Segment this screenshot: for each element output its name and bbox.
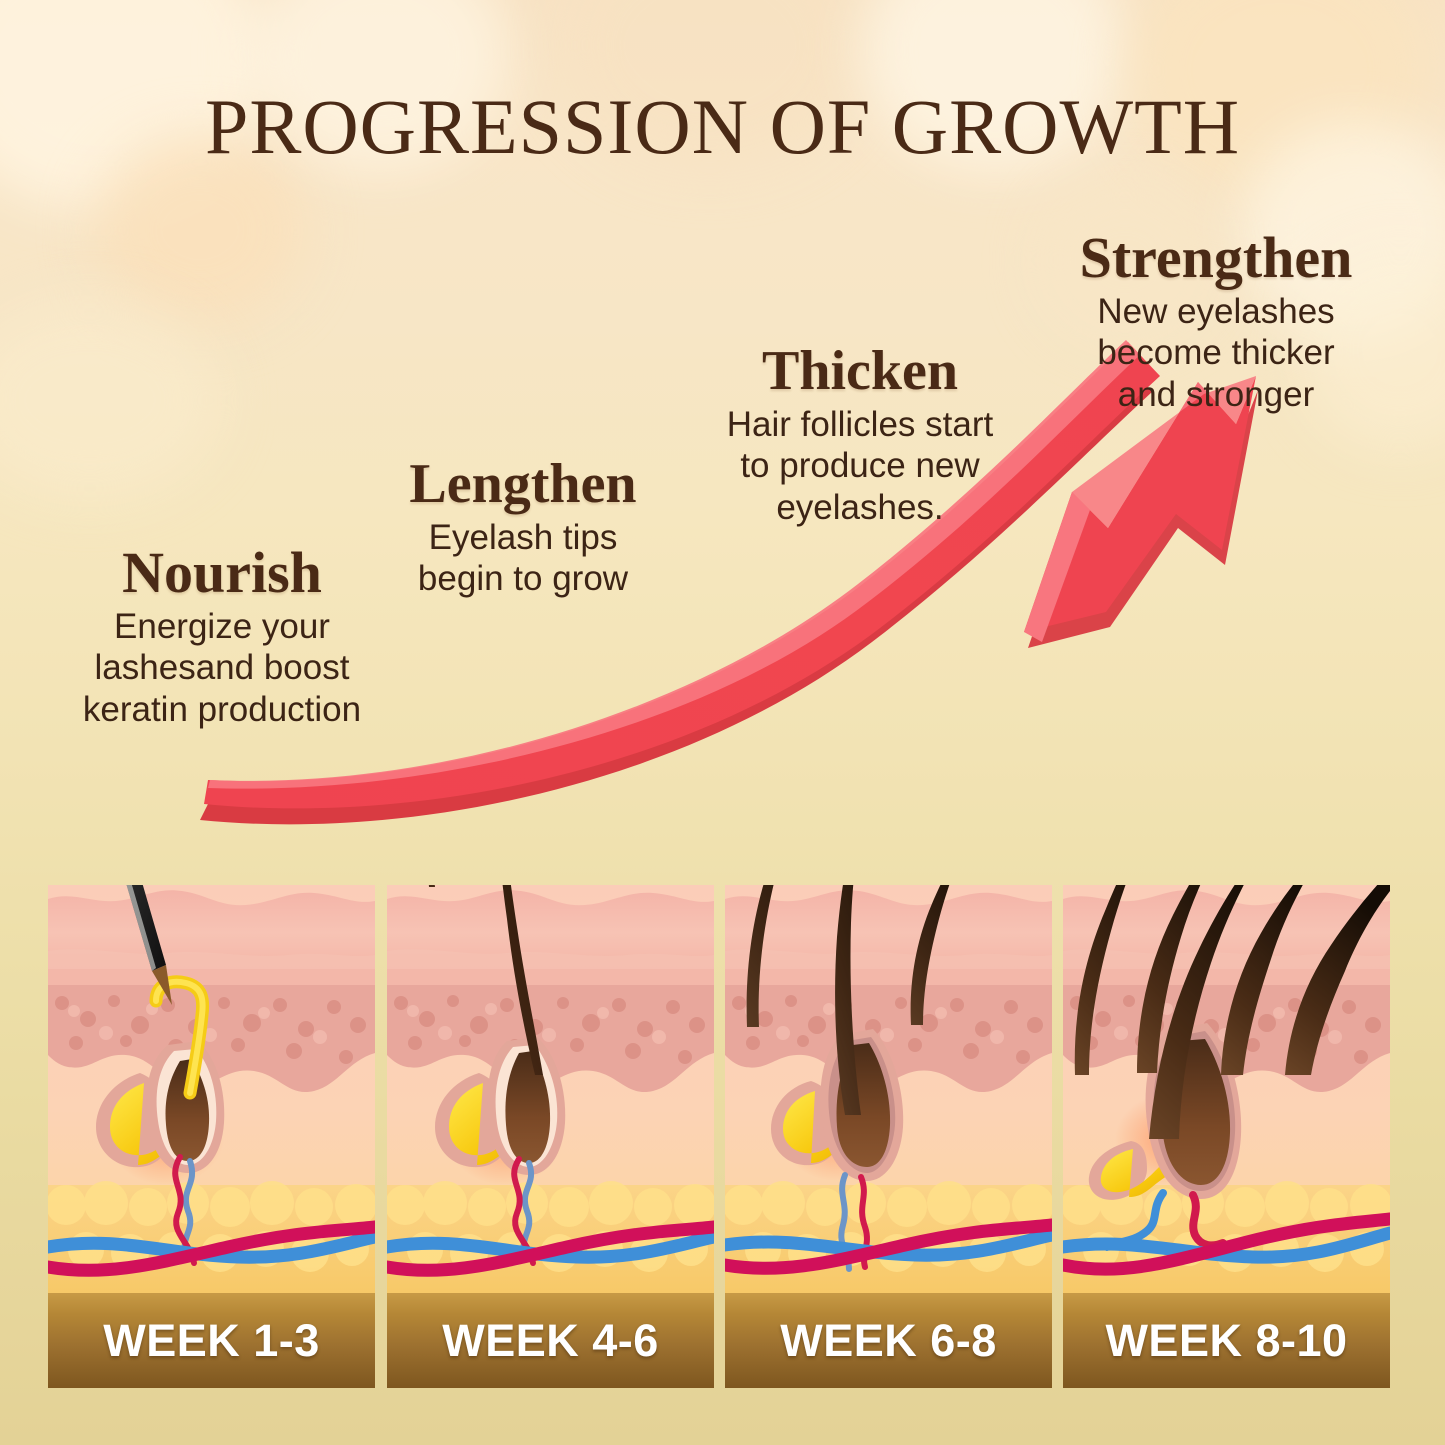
panel-week-8-10[interactable]: WEEK 8-10	[1063, 885, 1390, 1388]
panel-label: WEEK 8-10	[1063, 1293, 1390, 1388]
panel-row: WEEK 1-3	[0, 0, 1445, 1445]
panel-week-1-3[interactable]: WEEK 1-3	[48, 885, 375, 1388]
infographic-root: PROGRESSION OF GROWTH Nourish Energize y…	[0, 0, 1445, 1445]
skin-cross-section	[48, 885, 375, 1293]
panel-week-6-8[interactable]: WEEK 6-8	[725, 885, 1052, 1388]
panel-label: WEEK 4-6	[387, 1293, 714, 1388]
panel-label: WEEK 1-3	[48, 1293, 375, 1388]
skin-cross-section	[387, 885, 714, 1293]
panel-week-4-6[interactable]: WEEK 4-6	[387, 885, 714, 1388]
skin-cross-section	[1063, 885, 1390, 1293]
panel-label: WEEK 6-8	[725, 1293, 1052, 1388]
skin-cross-section	[725, 885, 1052, 1293]
